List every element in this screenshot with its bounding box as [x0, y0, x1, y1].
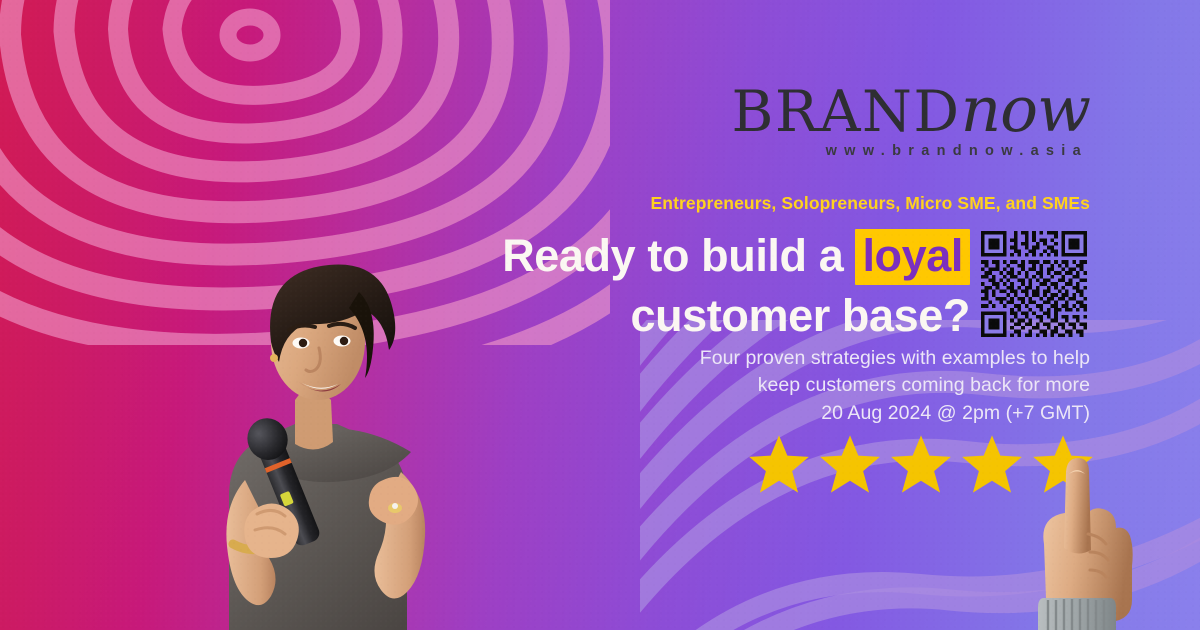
star-icon	[961, 434, 1023, 494]
star-icon	[748, 434, 810, 494]
logo-secondary-text: now	[961, 73, 1090, 146]
logo-wordmark: BRANDnow	[620, 80, 1090, 140]
subcopy-line-1: Four proven strategies with examples to …	[640, 345, 1090, 372]
event-datetime: 20 Aug 2024 @ 2pm (+7 GMT)	[640, 400, 1090, 427]
brand-logo: BRANDnow www.brandnow.asia	[620, 80, 1090, 159]
logo-primary-text: BRAND	[732, 79, 961, 145]
headline-line1-prefix: Ready to build a	[502, 230, 855, 281]
promo-poster: BRANDnow www.brandnow.asia Entrepreneurs…	[0, 0, 1200, 630]
star-icon	[819, 434, 881, 494]
qr-code-icon[interactable]	[981, 231, 1087, 337]
logo-website-url: www.brandnow.asia	[620, 143, 1090, 159]
pointing-hand-illustration	[1022, 448, 1134, 630]
star-icon	[890, 434, 952, 494]
subcopy-line-2: keep customers coming back for more	[640, 372, 1090, 399]
headline-line2: customer base?	[630, 290, 970, 341]
event-details: Four proven strategies with examples to …	[640, 345, 1090, 427]
audience-tagline: Entrepreneurs, Solopreneurs, Micro SME, …	[520, 193, 1090, 214]
headline-highlight-word: loyal	[855, 229, 970, 285]
page-title: Ready to build a loyal customer base?	[400, 226, 970, 346]
